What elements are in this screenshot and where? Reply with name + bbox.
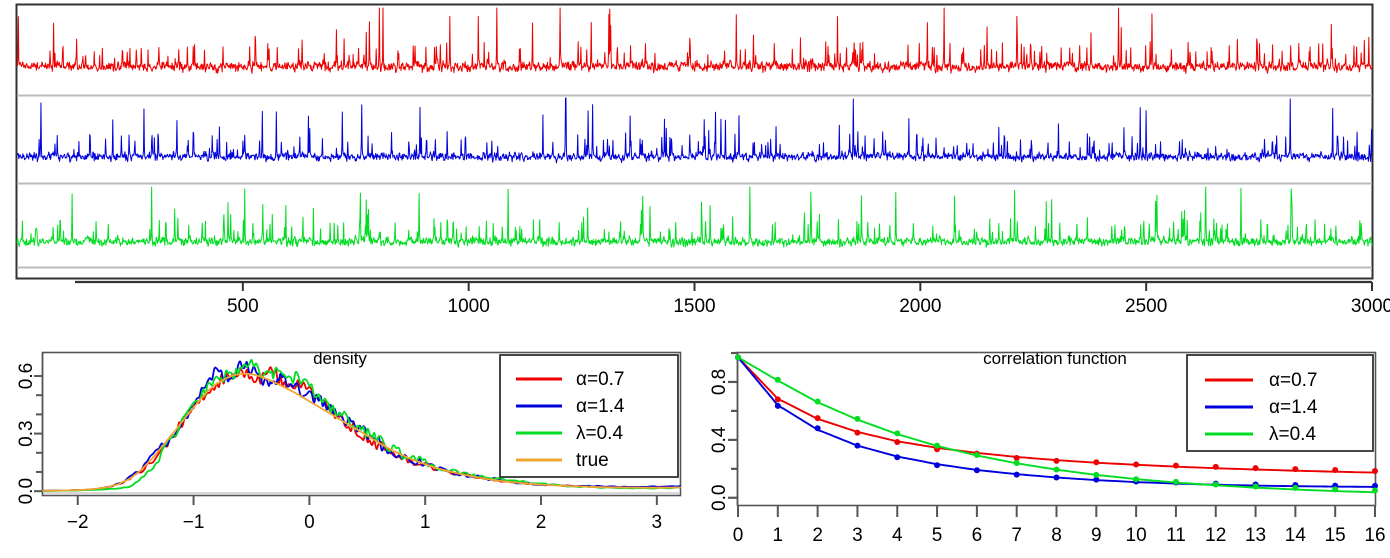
- density-figure: 0.00.30.6 −2−10123 density α=0.7α=1.4λ=0…: [0, 333, 695, 558]
- density-ytick-label: 0.6: [16, 363, 37, 389]
- correlation-point: [1173, 463, 1179, 469]
- correlation-xtick-label: 11: [1166, 525, 1186, 546]
- correlation-title: correlation function: [983, 349, 1127, 368]
- correlation-xtick-label: 8: [1051, 525, 1062, 546]
- correlation-legend: α=0.7α=1.4λ=0.4: [1187, 355, 1373, 451]
- correlation-point: [1133, 461, 1139, 467]
- correlation-xtick-label: 9: [1091, 525, 1102, 546]
- correlation-y-axis: 0.00.40.8: [709, 353, 738, 511]
- timeseries-x-axis: 50010001500200025003000: [75, 282, 1390, 317]
- correlation-legend-label-0: α=0.7: [1269, 370, 1318, 391]
- correlation-xtick-label: 14: [1285, 525, 1307, 546]
- density-xtick-label: 3: [652, 512, 663, 533]
- density-xtick-label: −1: [183, 512, 205, 533]
- timeseries-xtick-label: 500: [227, 296, 259, 317]
- correlation-point: [775, 377, 781, 383]
- correlation-point: [1253, 483, 1259, 489]
- correlation-xtick-label: 4: [892, 525, 903, 546]
- correlation-point: [815, 415, 821, 421]
- density-xtick-label: 0: [304, 512, 315, 533]
- correlation-point: [1372, 468, 1378, 474]
- timeseries-xtick-label: 1000: [448, 296, 490, 317]
- density-xtick-label: 2: [536, 512, 547, 533]
- correlation-ytick-label: 0.8: [709, 369, 730, 395]
- correlation-point: [1213, 481, 1219, 487]
- density-x-axis: −2−10123: [67, 496, 662, 533]
- correlation-point: [1372, 488, 1378, 494]
- correlation-point: [1253, 465, 1259, 471]
- correlation-figure: 0.00.40.8 012345678910111213141516 corre…: [695, 333, 1390, 558]
- correlation-point: [974, 452, 980, 458]
- density-ytick-label: 0.0: [16, 478, 37, 504]
- correlation-xtick-label: 7: [1011, 525, 1022, 546]
- correlation-legend-label-1: α=1.4: [1269, 397, 1318, 418]
- correlation-point: [1014, 460, 1020, 466]
- timeseries-xtick-label: 3000: [1351, 296, 1390, 317]
- correlation-point: [854, 416, 860, 422]
- correlation-xtick-label: 15: [1325, 525, 1346, 546]
- correlation-point: [974, 467, 980, 473]
- correlation-point: [1093, 459, 1099, 465]
- correlation-point: [1093, 472, 1099, 478]
- correlation-point: [1054, 474, 1060, 480]
- correlation-point: [815, 398, 821, 404]
- density-legend-label-1: α=1.4: [576, 396, 625, 417]
- correlation-point: [1292, 485, 1298, 491]
- timeseries-xtick-label: 2000: [899, 296, 941, 317]
- correlation-x-axis: 012345678910111213141516: [733, 506, 1386, 546]
- correlation-point: [775, 396, 781, 402]
- correlation-xtick-label: 5: [932, 525, 943, 546]
- correlation-point: [1213, 464, 1219, 470]
- correlation-xtick-label: 12: [1205, 525, 1226, 546]
- correlation-point: [1332, 486, 1338, 492]
- correlation-xtick-label: 0: [733, 525, 744, 546]
- correlation-point: [934, 443, 940, 449]
- correlation-xtick-label: 2: [812, 525, 823, 546]
- correlation-point: [1054, 458, 1060, 464]
- correlation-xtick-label: 13: [1245, 525, 1266, 546]
- timeseries-xtick-label: 1500: [673, 296, 715, 317]
- correlation-xtick-label: 10: [1126, 525, 1147, 546]
- correlation-xtick-label: 6: [972, 525, 983, 546]
- density-legend-label-3: true: [576, 450, 609, 471]
- density-y-axis: 0.00.30.6: [16, 353, 43, 504]
- correlation-point: [894, 439, 900, 445]
- density-legend-label-0: α=0.7: [576, 369, 625, 390]
- density-ytick-label: 0.3: [16, 420, 37, 446]
- correlation-point: [1054, 467, 1060, 473]
- correlation-point: [775, 403, 781, 409]
- correlation-point: [894, 430, 900, 436]
- correlation-point: [894, 454, 900, 460]
- correlation-xtick-label: 16: [1364, 525, 1385, 546]
- density-title: density: [313, 349, 367, 368]
- correlation-point: [1292, 466, 1298, 472]
- correlation-point: [1133, 476, 1139, 482]
- correlation-point: [854, 430, 860, 436]
- timeseries-xtick-label: 2500: [1125, 296, 1167, 317]
- correlation-point: [1173, 479, 1179, 485]
- correlation-point: [1332, 467, 1338, 473]
- density-legend-label-2: λ=0.4: [576, 423, 623, 444]
- correlation-point: [1014, 472, 1020, 478]
- correlation-xtick-label: 3: [852, 525, 863, 546]
- correlation-point: [815, 425, 821, 431]
- timeseries-figure: 50010001500200025003000: [0, 0, 1390, 330]
- correlation-point: [934, 462, 940, 468]
- correlation-point: [735, 354, 741, 360]
- correlation-ytick-label: 0.4: [709, 426, 730, 453]
- density-xtick-label: 1: [420, 512, 431, 533]
- density-xtick-label: −2: [67, 512, 89, 533]
- correlation-legend-label-2: λ=0.4: [1269, 424, 1316, 445]
- correlation-ytick-label: 0.0: [709, 485, 730, 511]
- correlation-xtick-label: 1: [773, 525, 784, 546]
- figure-root: 50010001500200025003000 0.00.30.6 −2−101…: [0, 0, 1390, 555]
- density-legend: α=0.7α=1.4λ=0.4true: [500, 355, 678, 477]
- correlation-point: [854, 443, 860, 449]
